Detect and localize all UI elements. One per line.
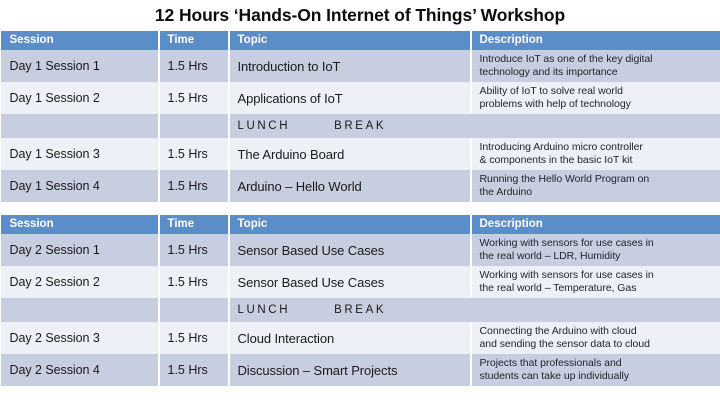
cell-topic: Arduino – Hello World: [229, 170, 471, 202]
lunch-break-label: LUNCHBREAK: [229, 298, 720, 322]
column-header-session: Session: [1, 31, 159, 50]
day1-table-body: Day 1 Session 1 1.5 Hrs Introduction to …: [1, 50, 720, 202]
cell-description: Ability of IoT to solve real world probl…: [471, 82, 720, 114]
column-header-topic: Topic: [229, 215, 471, 234]
cell-time: 1.5 Hrs: [159, 138, 229, 170]
day1-table-header: Session Time Topic Description: [1, 31, 720, 50]
description-line: Working with sensors for use cases in: [480, 237, 716, 250]
description-line: Connecting the Arduino with cloud: [480, 325, 716, 338]
cell-session: Day 2 Session 4: [1, 354, 159, 386]
column-header-session: Session: [1, 215, 159, 234]
cell-topic: Applications of IoT: [229, 82, 471, 114]
cell-description: Running the Hello World Program on the A…: [471, 170, 720, 202]
description-line: students can take up individually: [480, 370, 716, 383]
cell-session: Day 1 Session 2: [1, 82, 159, 114]
description-line: the real world – Temperature, Gas: [480, 282, 716, 295]
table-row: Day 2 Session 2 1.5 Hrs Sensor Based Use…: [1, 266, 720, 298]
cell-time: 1.5 Hrs: [159, 82, 229, 114]
cell-session: Day 2 Session 2: [1, 266, 159, 298]
cell-description: Connecting the Arduino with cloud and se…: [471, 322, 720, 354]
description-line: Running the Hello World Program on: [480, 173, 716, 186]
column-header-description: Description: [471, 31, 720, 50]
column-header-time: Time: [159, 31, 229, 50]
cell-description: Working with sensors for use cases in th…: [471, 266, 720, 298]
description-line: and sending the sensor data to cloud: [480, 338, 716, 351]
lunch-word: LUNCH: [238, 120, 291, 132]
workshop-schedule-page: 12 Hours ‘Hands-On Internet of Things’ W…: [0, 4, 720, 414]
cell-session-empty: [1, 298, 159, 322]
cell-time: 1.5 Hrs: [159, 354, 229, 386]
cell-session: Day 1 Session 4: [1, 170, 159, 202]
table-row: Day 2 Session 4 1.5 Hrs Discussion – Sma…: [1, 354, 720, 386]
table-row: Day 1 Session 2 1.5 Hrs Applications of …: [1, 82, 720, 114]
description-line: the real world – LDR, Humidity: [480, 250, 716, 263]
table-row: Day 1 Session 4 1.5 Hrs Arduino – Hello …: [1, 170, 720, 202]
lunch-break-row: LUNCHBREAK: [1, 114, 720, 138]
cell-topic: Sensor Based Use Cases: [229, 266, 471, 298]
description-line: Introducing Arduino micro controller: [480, 141, 716, 154]
lunch-break-row: LUNCHBREAK: [1, 298, 720, 322]
cell-session: Day 2 Session 3: [1, 322, 159, 354]
description-line: the Arduino: [480, 186, 716, 199]
break-word: BREAK: [334, 304, 386, 316]
cell-description: Projects that professionals and students…: [471, 354, 720, 386]
column-header-topic: Topic: [229, 31, 471, 50]
page-title: 12 Hours ‘Hands-On Internet of Things’ W…: [0, 4, 720, 26]
break-word: BREAK: [334, 120, 386, 132]
description-line: Projects that professionals and: [480, 357, 716, 370]
table-row: Day 1 Session 1 1.5 Hrs Introduction to …: [1, 50, 720, 82]
cell-time-empty: [159, 114, 229, 138]
cell-time: 1.5 Hrs: [159, 322, 229, 354]
cell-session: Day 2 Session 1: [1, 234, 159, 266]
day2-table-header: Session Time Topic Description: [1, 215, 720, 234]
cell-time-empty: [159, 298, 229, 322]
cell-description: Introduce IoT as one of the key digital …: [471, 50, 720, 82]
description-line: Ability of IoT to solve real world: [480, 85, 716, 98]
column-header-time: Time: [159, 215, 229, 234]
column-header-description: Description: [471, 215, 720, 234]
cell-time: 1.5 Hrs: [159, 170, 229, 202]
cell-description: Introducing Arduino micro controller & c…: [471, 138, 720, 170]
cell-session: Day 1 Session 3: [1, 138, 159, 170]
description-line: problems with help of technology: [480, 98, 716, 111]
cell-time: 1.5 Hrs: [159, 234, 229, 266]
cell-session: Day 1 Session 1: [1, 50, 159, 82]
cell-topic: Introduction to IoT: [229, 50, 471, 82]
cell-description: Working with sensors for use cases in th…: [471, 234, 720, 266]
header-row: Session Time Topic Description: [1, 31, 720, 50]
cell-topic: Cloud Interaction: [229, 322, 471, 354]
lunch-break-label: LUNCHBREAK: [229, 114, 720, 138]
cell-session-empty: [1, 114, 159, 138]
day2-schedule-table: Session Time Topic Description Day 2 Ses…: [1, 215, 720, 386]
description-line: & components in the basic IoT kit: [480, 154, 716, 167]
day1-schedule-table: Session Time Topic Description Day 1 Ses…: [1, 31, 720, 202]
cell-topic: The Arduino Board: [229, 138, 471, 170]
cell-topic: Sensor Based Use Cases: [229, 234, 471, 266]
description-line: technology and its importance: [480, 66, 716, 79]
description-line: Working with sensors for use cases in: [480, 269, 716, 282]
cell-topic: Discussion – Smart Projects: [229, 354, 471, 386]
lunch-word: LUNCH: [238, 304, 291, 316]
table-row: Day 2 Session 1 1.5 Hrs Sensor Based Use…: [1, 234, 720, 266]
table-row: Day 2 Session 3 1.5 Hrs Cloud Interactio…: [1, 322, 720, 354]
cell-time: 1.5 Hrs: [159, 50, 229, 82]
day2-table-body: Day 2 Session 1 1.5 Hrs Sensor Based Use…: [1, 234, 720, 386]
cell-time: 1.5 Hrs: [159, 266, 229, 298]
description-line: Introduce IoT as one of the key digital: [480, 53, 716, 66]
table-row: Day 1 Session 3 1.5 Hrs The Arduino Boar…: [1, 138, 720, 170]
header-row: Session Time Topic Description: [1, 215, 720, 234]
